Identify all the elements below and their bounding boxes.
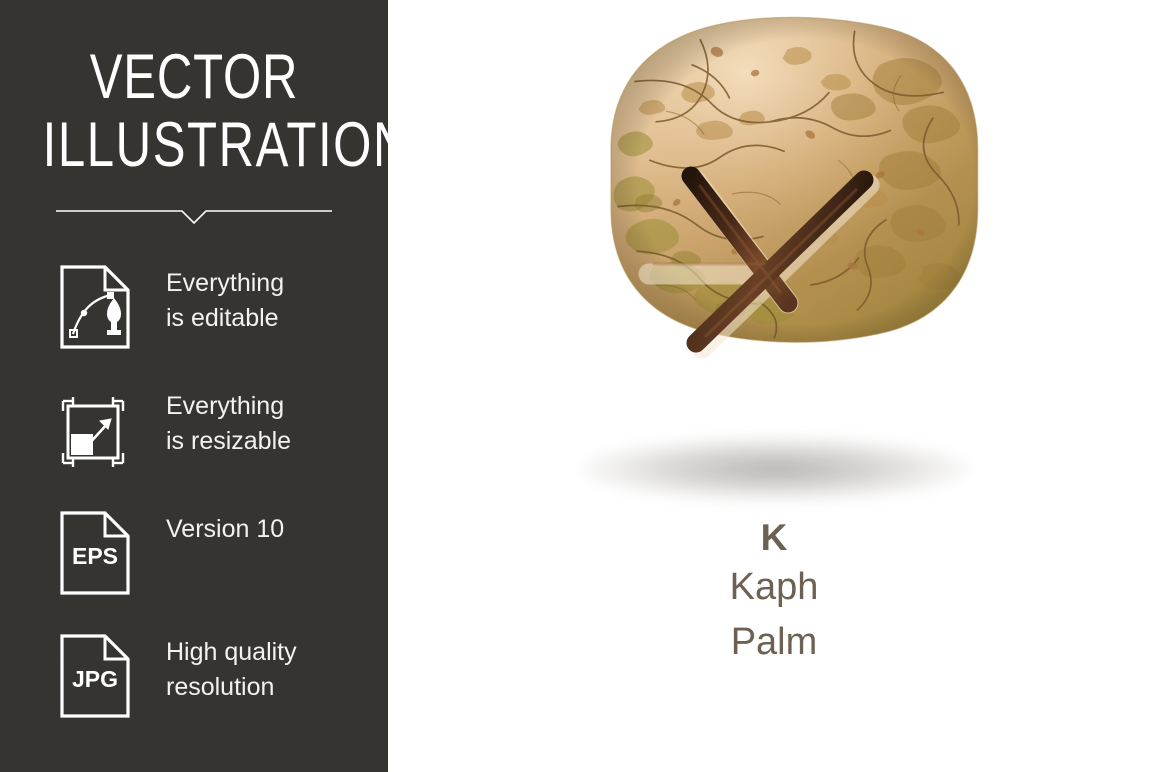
feature-item-editable: Everything is editable [0,258,388,381]
eps-file-icon: EPS [59,510,131,596]
rune-caption: K Kaph Palm [388,516,1160,670]
caption-letter: K [388,516,1160,560]
resize-crop-arrow-icon [59,387,131,473]
feature-item-quality: JPG High quality resolution [0,627,388,750]
chevron-down-notch-icon [56,204,332,226]
feature-label-quality: High quality resolution [166,635,381,705]
rune-stone-illustration [388,0,1160,500]
artwork-stage: K Kaph Palm [388,0,1160,772]
brand-title: VECTOR ILLUSTRATION [0,46,388,182]
feature-label-editable: Everything is editable [166,266,381,336]
jpg-file-icon-label: JPG [72,666,118,692]
brand-title-line-2: ILLUSTRATION [43,108,346,182]
caption-name: Kaph [388,560,1160,615]
sidebar-panel: VECTOR ILLUSTRATION [0,0,388,772]
feature-item-resizable: Everything is resizable [0,381,388,504]
stock-illustration-preview: VECTOR ILLUSTRATION [0,0,1160,772]
feature-label-version: Version 10 [166,512,381,547]
document-pen-tool-icon [59,264,131,350]
divider-with-chevron [56,204,332,226]
caption-meaning: Palm [388,615,1160,670]
feature-list: Everything is editable [0,258,388,750]
jpg-file-icon: JPG [59,633,131,719]
brand-title-line-1: VECTOR [43,46,346,108]
feature-item-version: EPS Version 10 [0,504,388,627]
eps-file-icon-label: EPS [72,543,118,569]
feature-label-resizable: Everything is resizable [166,389,381,459]
